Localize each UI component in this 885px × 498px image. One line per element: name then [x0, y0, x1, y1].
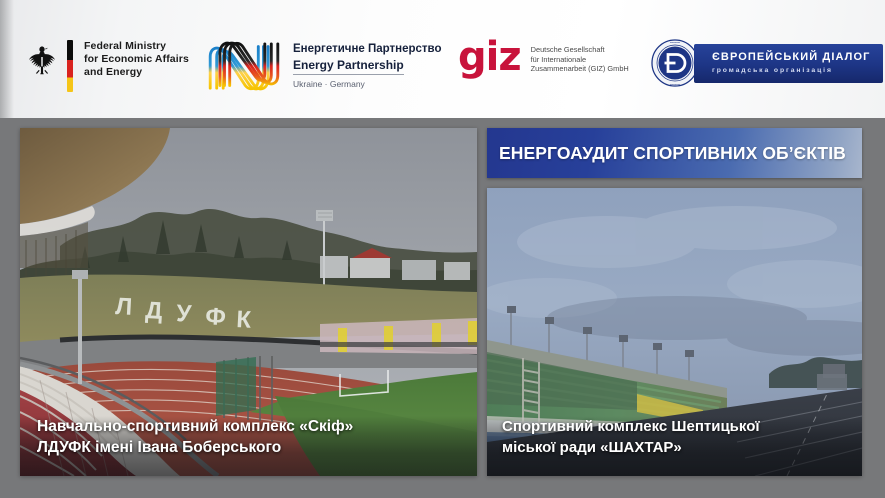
photo-skif-stadium: Л Д У Ф К [20, 128, 477, 476]
european-dialogue-subtitle: громадська організація [712, 66, 870, 76]
energy-partnership-wave-icon [205, 40, 283, 92]
svg-text:Л: Л [115, 293, 133, 321]
energy-partnership-text: Енергетичне Партнерство Energy Partnersh… [293, 40, 442, 90]
european-dialogue-seal-icon: ••••••••• ••••••••• [650, 38, 700, 88]
logo-energy-partnership: Енергетичне Партнерство Energy Partnersh… [205, 40, 442, 92]
federal-ministry-line1: Federal Ministry [84, 40, 189, 53]
banner-title: ЕНЕРГОАУДИТ СПОРТИВНИХ ОБ’ЄКТІВ [487, 143, 846, 164]
federal-ministry-line3: and Energy [84, 66, 189, 79]
energy-partnership-title-en: Energy Partnership [293, 58, 404, 75]
european-dialogue-title: ЄВРОПЕЙСЬКИЙ ДІАЛОГ [712, 51, 870, 64]
giz-line3: Zusammenarbeit (GIZ) GmbH [531, 64, 629, 74]
svg-text:•••••••••: ••••••••• [670, 83, 680, 87]
svg-text:Д: Д [145, 297, 163, 325]
logo-giz: giz Deutsche Gesellschaft für Internatio… [458, 38, 629, 76]
logo-federal-ministry: Federal Ministry for Economic Affairs an… [25, 40, 189, 92]
german-flag-bar-icon [67, 40, 73, 92]
giz-line2: für Internationale [531, 55, 629, 65]
photo-shakhtar-complex: Спортивний комплекс Шептицької міської р… [487, 188, 862, 476]
svg-text:К: К [236, 306, 252, 334]
giz-line1: Deutsche Gesellschaft [531, 45, 629, 55]
logo-band: Federal Ministry for Economic Affairs an… [0, 0, 885, 118]
federal-ministry-line2: for Economic Affairs [84, 53, 189, 66]
banner-energy-audit: ЕНЕРГОАУДИТ СПОРТИВНИХ ОБ’ЄКТІВ [487, 128, 862, 178]
giz-subtitle: Deutsche Gesellschaft für Internationale… [531, 38, 629, 74]
slide-canvas: Federal Ministry for Economic Affairs an… [0, 0, 885, 498]
energy-partnership-countries: Ukraine · Germany [293, 78, 442, 90]
svg-text:•••••••••: ••••••••• [670, 41, 680, 45]
federal-ministry-text: Federal Ministry for Economic Affairs an… [84, 40, 189, 80]
european-dialogue-plate: ЄВРОПЕЙСЬКИЙ ДІАЛОГ громадська організац… [694, 44, 883, 83]
logo-european-dialogue: ••••••••• ••••••••• ЄВРОПЕЙСЬКИЙ ДІАЛОГ … [650, 38, 883, 88]
german-eagle-icon [25, 43, 59, 77]
energy-partnership-title-uk: Енергетичне Партнерство [293, 42, 442, 56]
svg-text:Ф: Ф [205, 303, 227, 331]
giz-wordmark-icon: giz [458, 38, 521, 76]
svg-text:У: У [176, 300, 193, 328]
